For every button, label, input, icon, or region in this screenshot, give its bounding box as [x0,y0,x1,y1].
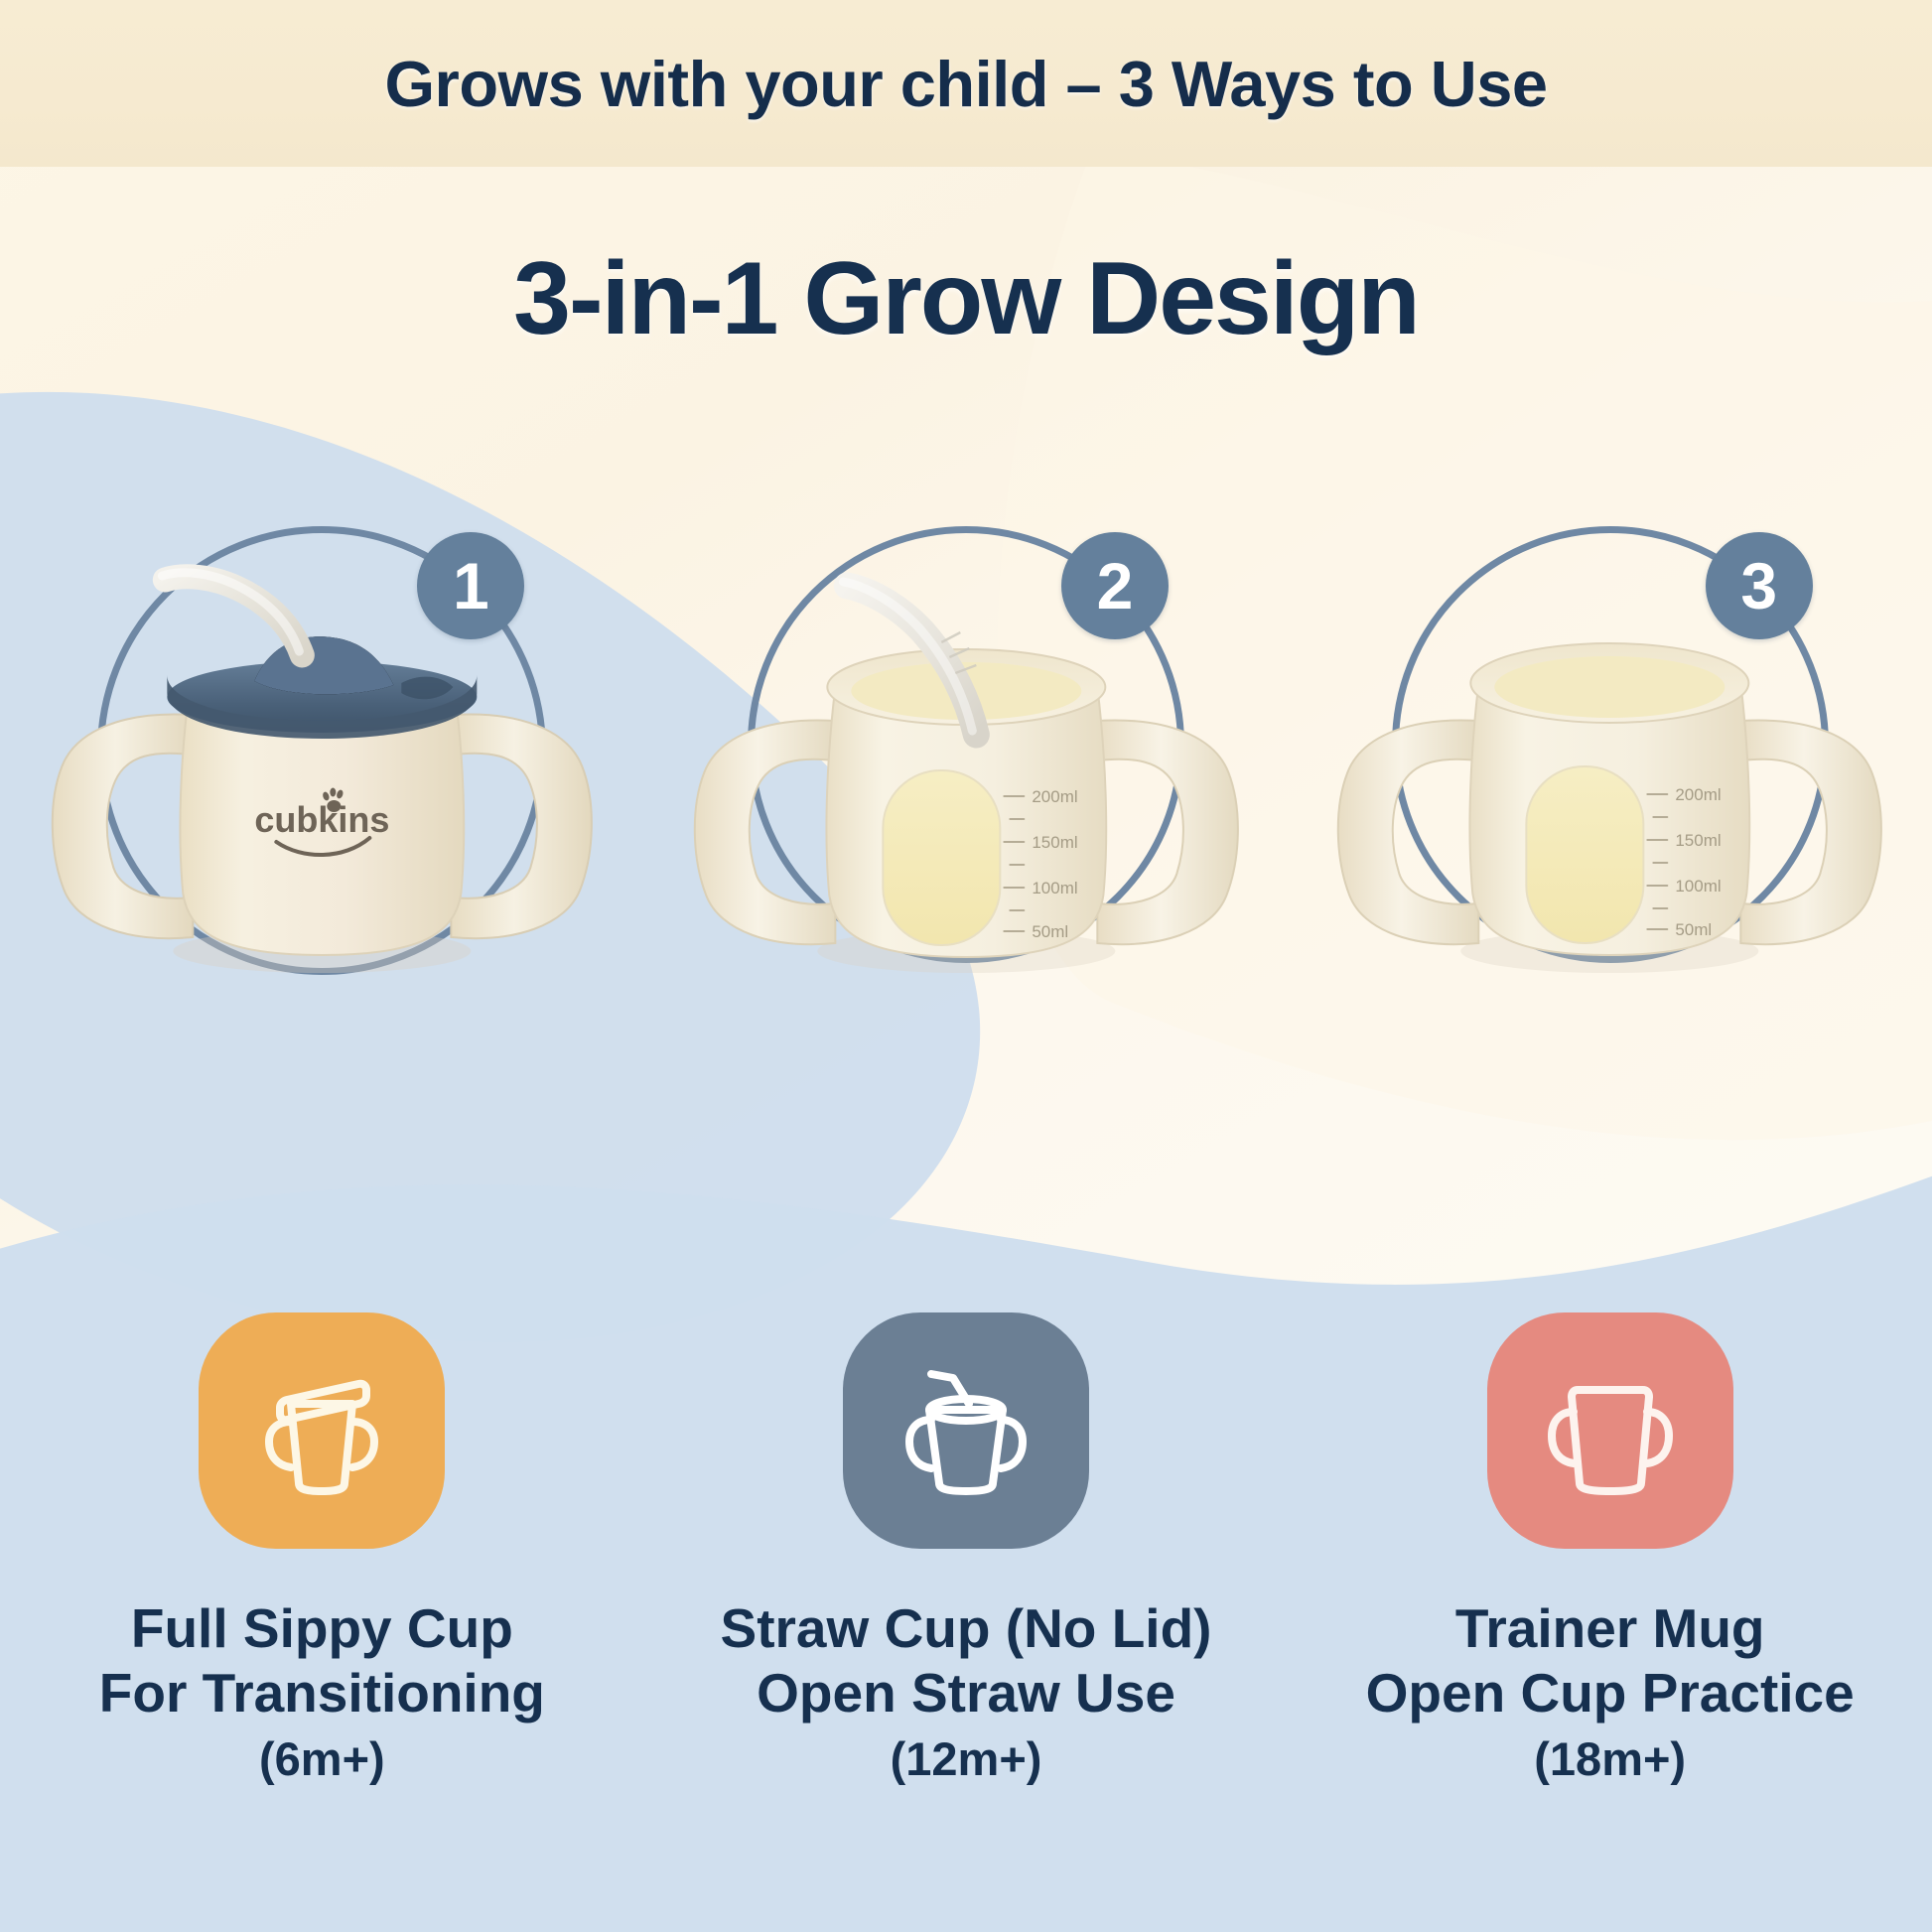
step-badge-3: 3 [1706,532,1813,639]
feature-title-line1-2: Straw Cup (No Lid) [721,1596,1212,1661]
step-badge-2: 2 [1061,532,1169,639]
product-showcase-row: 1 [0,516,1932,1072]
feature-3: Trainer Mug Open Cup Practice (18m+) [1288,1312,1932,1786]
feature-1: Full Sippy Cup For Transitioning (6m+) [0,1312,644,1786]
feature-age-1: (6m+) [99,1731,545,1786]
feature-2: Straw Cup (No Lid) Open Straw Use (12m+) [644,1312,1289,1786]
feature-age-2: (12m+) [721,1731,1212,1786]
brand-name-1: cubkins [254,799,389,840]
sippy-cup-with-lid-icon [247,1356,396,1505]
measure-label-150ml: 150ml [1676,831,1722,850]
right-handle-2 [1097,720,1238,944]
product-infographic: Grows with your child – 3 Ways to Use 3-… [0,0,1932,1932]
product-step-1: 1 [0,516,644,1072]
banner-text: Grows with your child – 3 Ways to Use [384,47,1547,121]
left-handle-1 [53,714,194,938]
lid-spout-bump-1 [254,636,393,694]
cup-illustration-2: 200ml 150ml 100ml 50ml [644,516,1289,1072]
feature-tile-1 [199,1312,445,1549]
feature-tile-3 [1487,1312,1733,1549]
cup-illustration-1: cubkins [0,516,644,1072]
feature-age-3: (18m+) [1366,1731,1855,1786]
feature-row: Full Sippy Cup For Transitioning (6m+) [0,1312,1932,1786]
product-step-2: 2 [644,516,1289,1072]
feature-title-line2-1: For Transitioning [99,1661,545,1725]
open-trainer-mug-icon [1536,1356,1685,1505]
feature-caption-2: Straw Cup (No Lid) Open Straw Use (12m+) [721,1596,1212,1786]
feature-tile-2 [843,1312,1089,1549]
product-step-3: 3 [1288,516,1932,1072]
feature-caption-3: Trainer Mug Open Cup Practice (18m+) [1366,1596,1855,1786]
feature-title-line2-3: Open Cup Practice [1366,1661,1855,1725]
left-handle-2 [694,720,835,944]
feature-title-line2-2: Open Straw Use [721,1661,1212,1725]
measure-label-100ml: 100ml [1032,879,1077,897]
right-handle-1 [451,714,592,938]
left-handle-3 [1338,720,1479,944]
measure-label-200ml: 200ml [1032,787,1077,806]
feature-caption-1: Full Sippy Cup For Transitioning (6m+) [99,1596,545,1786]
measure-label-200ml: 200ml [1676,785,1722,804]
header-banner: Grows with your child – 3 Ways to Use [0,0,1932,167]
cup-illustration-3: 200ml 150ml 100ml 50ml [1288,516,1932,1072]
cup-interior-3 [1495,656,1725,718]
measure-label-50ml: 50ml [1032,922,1068,941]
feature-title-line1-3: Trainer Mug [1366,1596,1855,1661]
measure-label-50ml: 50ml [1676,920,1713,939]
right-handle-3 [1741,720,1882,944]
measurement-window-2 [883,770,1000,945]
page-title: 3-in-1 Grow Design [0,240,1932,358]
measurement-window-3 [1527,766,1644,943]
measure-label-150ml: 150ml [1032,833,1077,852]
cup-with-straw-icon [892,1356,1040,1505]
step-badge-1: 1 [417,532,524,639]
measure-label-100ml: 100ml [1676,877,1722,896]
feature-title-line1-1: Full Sippy Cup [99,1596,545,1661]
